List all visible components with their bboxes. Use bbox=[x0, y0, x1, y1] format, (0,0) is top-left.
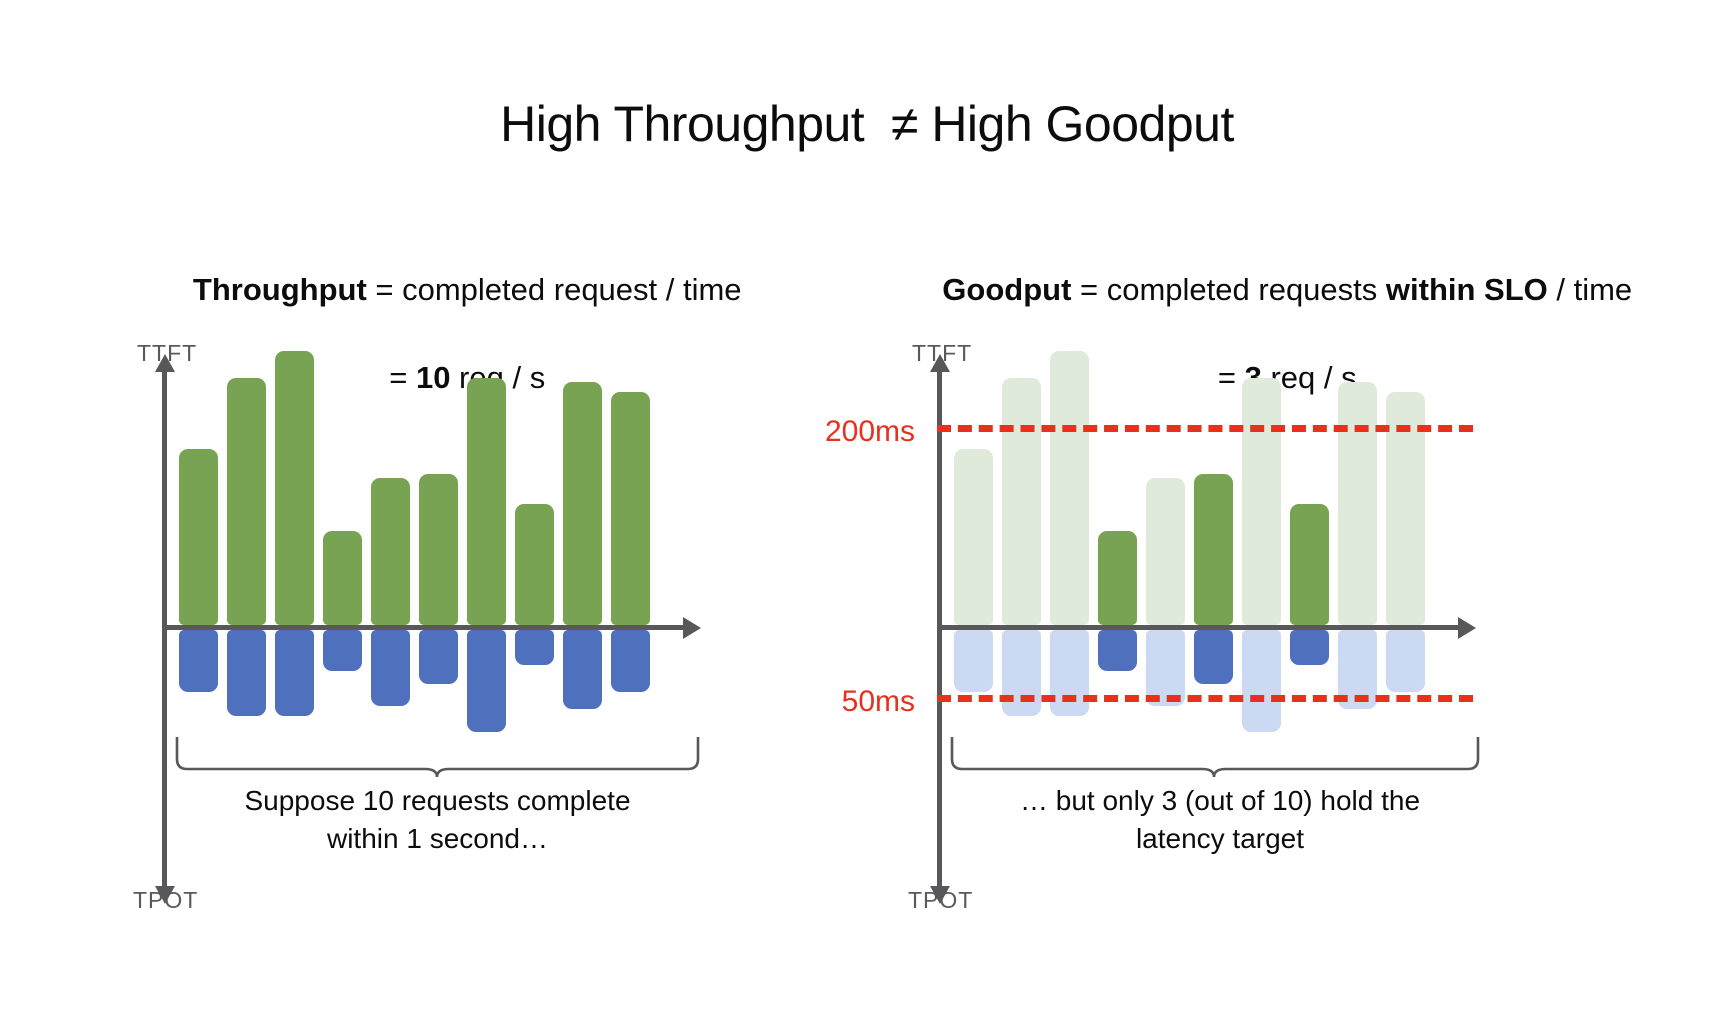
bar-tpot bbox=[1194, 630, 1233, 684]
bar-tpot bbox=[1290, 630, 1329, 665]
bar-column bbox=[1098, 340, 1137, 625]
bar-ttft bbox=[1050, 351, 1089, 625]
bar-tpot bbox=[954, 630, 993, 692]
bar-ttft bbox=[515, 504, 554, 625]
bar-group-goodput bbox=[954, 340, 1425, 625]
bar-ttft bbox=[611, 392, 650, 625]
bar-tpot bbox=[179, 630, 218, 692]
bar-group-throughput bbox=[179, 340, 650, 625]
bar-ttft bbox=[371, 478, 410, 625]
bar-column bbox=[1194, 340, 1233, 625]
bar-ttft bbox=[1290, 504, 1329, 625]
bar-ttft bbox=[275, 351, 314, 625]
bar-ttft bbox=[227, 378, 266, 625]
bar-column bbox=[179, 340, 218, 625]
bar-tpot bbox=[419, 630, 458, 684]
panel-goodput: Goodput = completed requests within SLO … bbox=[840, 200, 1700, 990]
bar-tpot bbox=[1098, 630, 1137, 671]
bar-column bbox=[1050, 340, 1089, 625]
bar-tpot bbox=[1002, 630, 1041, 716]
bar-tpot bbox=[563, 630, 602, 709]
bar-column bbox=[323, 340, 362, 625]
bar-tpot bbox=[1242, 630, 1281, 732]
goodput-definition-slo: within SLO bbox=[1386, 272, 1548, 307]
bar-column bbox=[1338, 340, 1377, 625]
bar-ttft bbox=[179, 449, 218, 625]
throughput-term: Throughput bbox=[193, 272, 367, 307]
panel-throughput: Throughput = completed request / time = … bbox=[60, 200, 840, 990]
brace-throughput bbox=[175, 735, 700, 779]
bar-column bbox=[467, 340, 506, 625]
bar-column bbox=[419, 340, 458, 625]
bar-column bbox=[515, 340, 554, 625]
bar-tpot bbox=[1386, 630, 1425, 692]
bar-ttft bbox=[1242, 378, 1281, 625]
bar-tpot bbox=[371, 630, 410, 706]
bar-ttft bbox=[1002, 378, 1041, 625]
bar-tpot bbox=[275, 630, 314, 716]
goodput-chart: TTFT TPOT 200ms 50ms … but only 3 (out o… bbox=[890, 340, 1460, 810]
bar-ttft bbox=[954, 449, 993, 625]
bar-tpot bbox=[611, 630, 650, 692]
bar-column bbox=[371, 340, 410, 625]
page-title: High Throughput ≠ High Goodput bbox=[0, 95, 1734, 153]
bar-ttft bbox=[1098, 531, 1137, 625]
goodput-footnote: … but only 3 (out of 10) hold the latenc… bbox=[955, 782, 1485, 858]
bar-column bbox=[1386, 340, 1425, 625]
slo-threshold-line-50ms: 50ms bbox=[937, 695, 1473, 702]
throughput-chart: TTFT TPOT Suppose 10 requests complete w… bbox=[115, 340, 735, 810]
bar-column bbox=[563, 340, 602, 625]
throughput-footnote: Suppose 10 requests complete within 1 se… bbox=[175, 782, 700, 858]
bar-ttft bbox=[1338, 382, 1377, 625]
bar-ttft bbox=[1194, 474, 1233, 625]
goodput-definition-rest: / time bbox=[1548, 272, 1632, 307]
bar-column bbox=[954, 340, 993, 625]
bar-tpot bbox=[227, 630, 266, 716]
slo-threshold-label-50ms: 50ms bbox=[842, 685, 937, 719]
bar-tpot bbox=[515, 630, 554, 665]
bar-ttft bbox=[467, 378, 506, 625]
goodput-term: Goodput bbox=[942, 272, 1071, 307]
goodput-definition-mid: = completed requests bbox=[1071, 272, 1385, 307]
brace-goodput bbox=[950, 735, 1480, 779]
bar-ttft bbox=[563, 382, 602, 625]
slo-threshold-label-200ms: 200ms bbox=[825, 415, 937, 449]
bar-ttft bbox=[323, 531, 362, 625]
throughput-definition-text: = completed request / time bbox=[367, 272, 742, 307]
bar-column bbox=[227, 340, 266, 625]
bar-ttft bbox=[419, 474, 458, 625]
bar-column bbox=[611, 340, 650, 625]
bar-tpot bbox=[467, 630, 506, 732]
bar-tpot bbox=[1050, 630, 1089, 716]
slo-threshold-line-200ms: 200ms bbox=[937, 425, 1473, 432]
bar-column bbox=[275, 340, 314, 625]
bar-column bbox=[1146, 340, 1185, 625]
bar-column bbox=[1290, 340, 1329, 625]
bar-column bbox=[1242, 340, 1281, 625]
bar-tpot bbox=[323, 630, 362, 671]
bar-column bbox=[1002, 340, 1041, 625]
bar-ttft bbox=[1146, 478, 1185, 625]
